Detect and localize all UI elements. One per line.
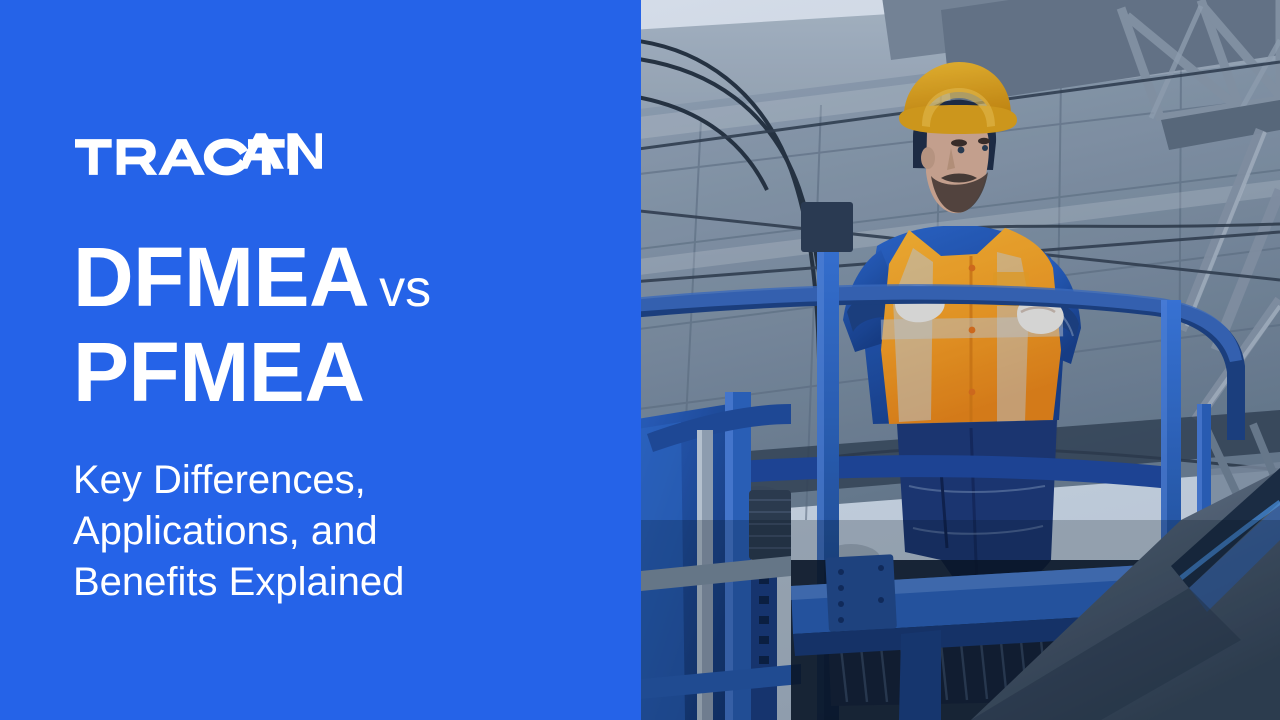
tractian-logo-suffix <box>243 133 322 169</box>
headline-line2-main: PFMEA <box>73 325 365 419</box>
page-title: DFMEAvsPFMEA <box>73 236 613 414</box>
left-content-panel: DFMEAvsPFMEA Key Differences, Applicatio… <box>0 0 641 720</box>
factory-worker-illustration <box>641 0 1280 720</box>
page-subtitle: Key Differences, Applications, and Benef… <box>73 455 633 608</box>
slide-canvas: DFMEAvsPFMEA Key Differences, Applicatio… <box>0 0 1280 720</box>
headline-line1-main: DFMEA <box>73 230 369 324</box>
headline-connector: vs <box>369 260 431 318</box>
hero-photo <box>641 0 1280 720</box>
